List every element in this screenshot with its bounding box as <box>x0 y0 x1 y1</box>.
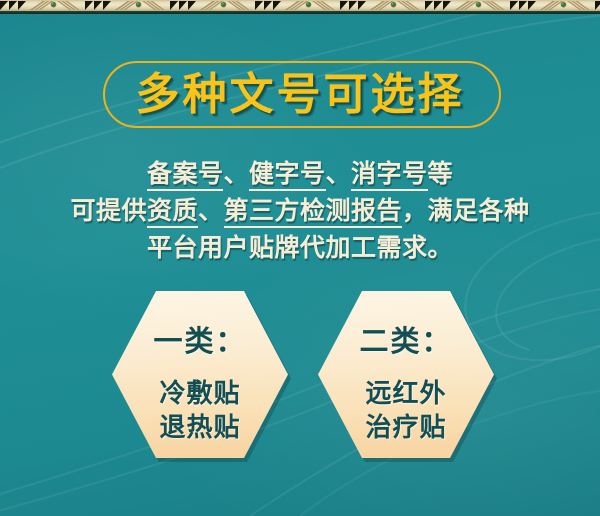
body-line2-head: 可提供 <box>70 198 147 225</box>
body-line-3: 平台用户贴牌代加工需求。 <box>0 230 600 267</box>
body-line-1: 备案号、健字号、消字号等 <box>0 156 600 193</box>
body-line1-tail: 等 <box>428 161 454 188</box>
hexagon-one-item-1: 冷敷贴 <box>112 373 288 410</box>
border-rule-line <box>0 11 600 14</box>
body-line-2: 可提供资质、第三方检测报告，满足各种 <box>0 193 600 230</box>
body-term-xiaozihao: 消字号 <box>351 161 428 191</box>
body-sep-2: 、 <box>326 161 352 188</box>
body-line2-tail: ，满足各种 <box>402 198 530 225</box>
border-band-pattern <box>0 0 600 11</box>
body-term-zizhi: 资质 <box>147 198 198 228</box>
hexagon-two-item-1: 远红外 <box>318 373 494 410</box>
page-title: 多种文号可选择 <box>0 62 600 128</box>
body-sep-1: 、 <box>223 161 249 188</box>
body-term-jianzihao: 健字号 <box>249 161 326 191</box>
poster-canvas: 多种文号可选择 备案号、健字号、消字号等 可提供资质、第三方检测报告，满足各种 … <box>0 0 600 516</box>
body-term-beianhao: 备案号 <box>147 161 224 191</box>
body-term-third-party-report: 第三方检测报告 <box>224 198 403 228</box>
body-sep-3: 、 <box>198 198 224 225</box>
body-copy: 备案号、健字号、消字号等 可提供资质、第三方检测报告，满足各种 平台用户贴牌代加… <box>0 156 600 267</box>
top-ornamental-border <box>0 0 600 14</box>
